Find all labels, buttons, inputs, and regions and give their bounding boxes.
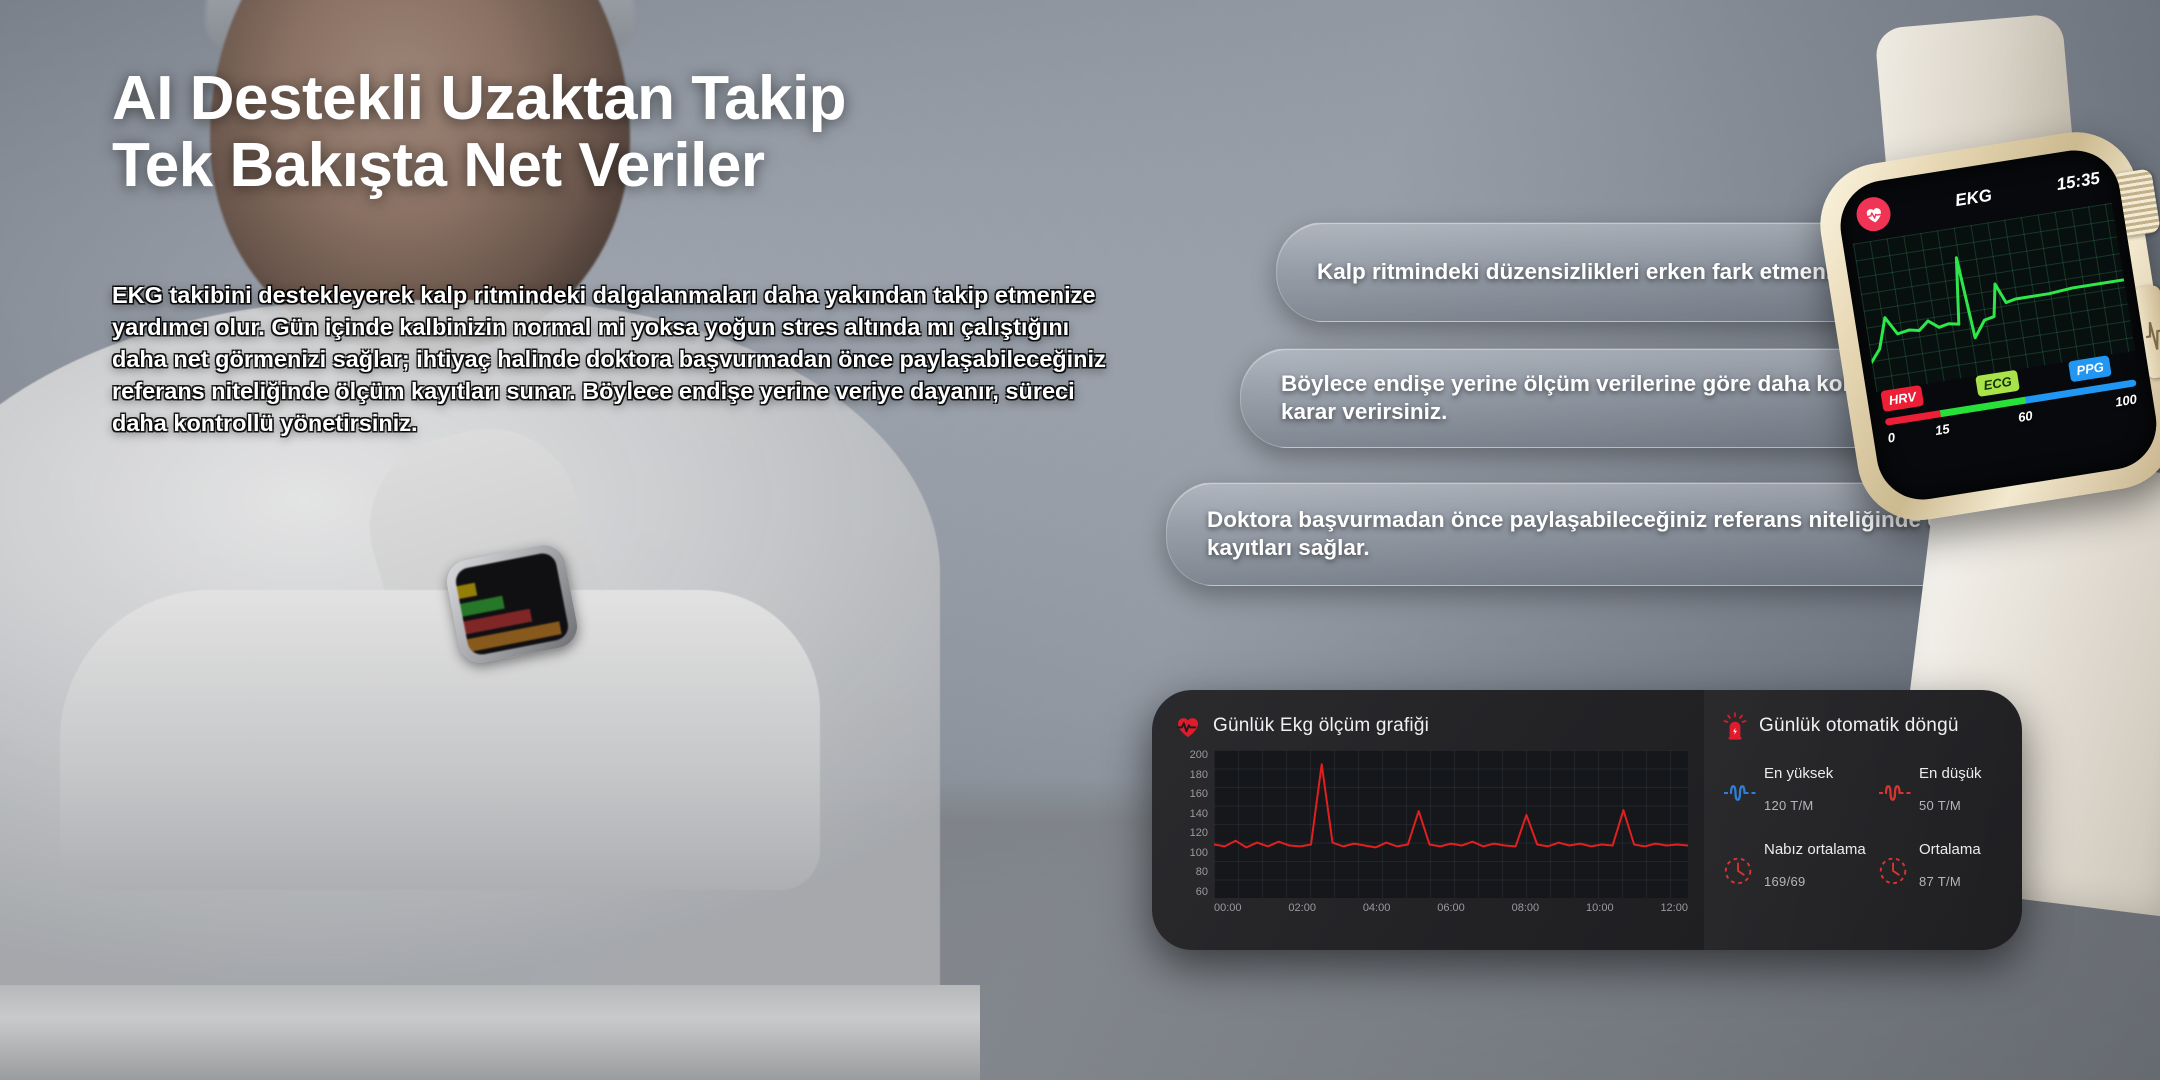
wave-high-icon: [1722, 776, 1758, 808]
headline-line-2: Tek Bakışta Net Veriler: [112, 133, 1182, 200]
x-tick-label: 04:00: [1363, 902, 1391, 914]
stat-label: En yüksek: [1764, 766, 1867, 783]
stat-value: 87 T/M: [1919, 874, 2022, 889]
watch-app-title: EKG: [1954, 186, 1994, 212]
scale-tick-100: 100: [2114, 391, 2138, 409]
worn-smartwatch-screen: [454, 551, 571, 657]
chart-panel: Günlük Ekg ölçüm grafiği 200180160140120…: [1152, 690, 1704, 950]
heart-pulse-glyph: [1862, 202, 1886, 226]
stat-item: Nabız ortalama 169/69: [1722, 842, 1867, 904]
chart-y-axis: 2001801601401201008060: [1174, 750, 1208, 898]
headline-line-1: AI Destekli Uzaktan Takip: [112, 66, 1182, 133]
scale-tick-60: 60: [2017, 408, 2034, 425]
stat-item: En düşük 50 T/M: [1877, 766, 2022, 828]
heart-pulse-icon: [1174, 712, 1202, 740]
scale-tick-15: 15: [1934, 421, 1951, 438]
person-arms: [60, 590, 820, 890]
x-tick-label: 02:00: [1288, 902, 1316, 914]
cycle-title: Günlük otomatik döngü: [1759, 715, 1959, 737]
y-tick-label: 140: [1174, 809, 1208, 820]
watch-time: 15:35: [2055, 168, 2101, 195]
cycle-header: Günlük otomatik döngü: [1722, 712, 2022, 740]
y-tick-label: 160: [1174, 789, 1208, 800]
stat-value: 169/69: [1764, 874, 1867, 889]
scale-tick-0: 0: [1887, 430, 1896, 446]
alarm-siren-icon: [1722, 712, 1748, 740]
chart-title: Günlük Ekg ölçüm grafiği: [1213, 715, 1429, 737]
table-surface: [0, 985, 980, 1080]
x-tick-label: 00:00: [1214, 902, 1242, 914]
page-title: AI Destekli Uzaktan Takip Tek Bakışta Ne…: [112, 66, 1182, 200]
daily-ecg-card: Günlük Ekg ölçüm grafiği 200180160140120…: [1152, 690, 2022, 950]
x-tick-label: 08:00: [1512, 902, 1540, 914]
smartwatch-product: EKG 15:35 HRV ECG PPG 0 15 60 100: [1777, 114, 2160, 595]
chart-x-axis: 00:0002:0004:0006:0008:0010:0012:00: [1214, 902, 1688, 914]
ecg-line-series: [1214, 750, 1688, 898]
wave-low-icon: [1877, 776, 1913, 808]
stat-value: 50 T/M: [1919, 798, 2022, 813]
x-tick-label: 10:00: [1586, 902, 1614, 914]
clock-dashed-icon: [1877, 852, 1913, 884]
heart-pulse-icon: [1854, 195, 1893, 234]
stat-label: En düşük: [1919, 766, 2022, 783]
x-tick-label: 12:00: [1660, 902, 1688, 914]
chart-plot-area: [1214, 750, 1688, 898]
y-tick-label: 180: [1174, 770, 1208, 781]
stat-label: Ortalama: [1919, 842, 2022, 859]
watch-screen: EKG 15:35 HRV ECG PPG 0 15 60 100: [1834, 144, 2160, 506]
stat-value: 120 T/M: [1764, 798, 1867, 813]
stats-grid: En yüksek 120 T/M En düşük 50 T/M: [1722, 766, 2022, 904]
y-tick-label: 80: [1174, 867, 1208, 878]
ecg-chart: 2001801601401201008060 00:0002:0004:0006…: [1174, 750, 1694, 926]
clock-dashed-icon: [1722, 852, 1758, 884]
y-tick-label: 200: [1174, 750, 1208, 761]
chart-panel-header: Günlük Ekg ölçüm grafiği: [1174, 712, 1704, 740]
y-tick-label: 60: [1174, 887, 1208, 898]
stat-label: Nabız ortalama: [1764, 842, 1867, 859]
y-tick-label: 120: [1174, 828, 1208, 839]
stat-item: En yüksek 120 T/M: [1722, 766, 1867, 828]
hero-paragraph: EKG takibini destekleyerek kalp ritminde…: [112, 280, 1122, 440]
stats-panel: Günlük otomatik döngü En yüksek 120 T/M: [1704, 690, 2022, 950]
stat-item: Ortalama 87 T/M: [1877, 842, 2022, 904]
y-tick-label: 100: [1174, 848, 1208, 859]
x-tick-label: 06:00: [1437, 902, 1465, 914]
